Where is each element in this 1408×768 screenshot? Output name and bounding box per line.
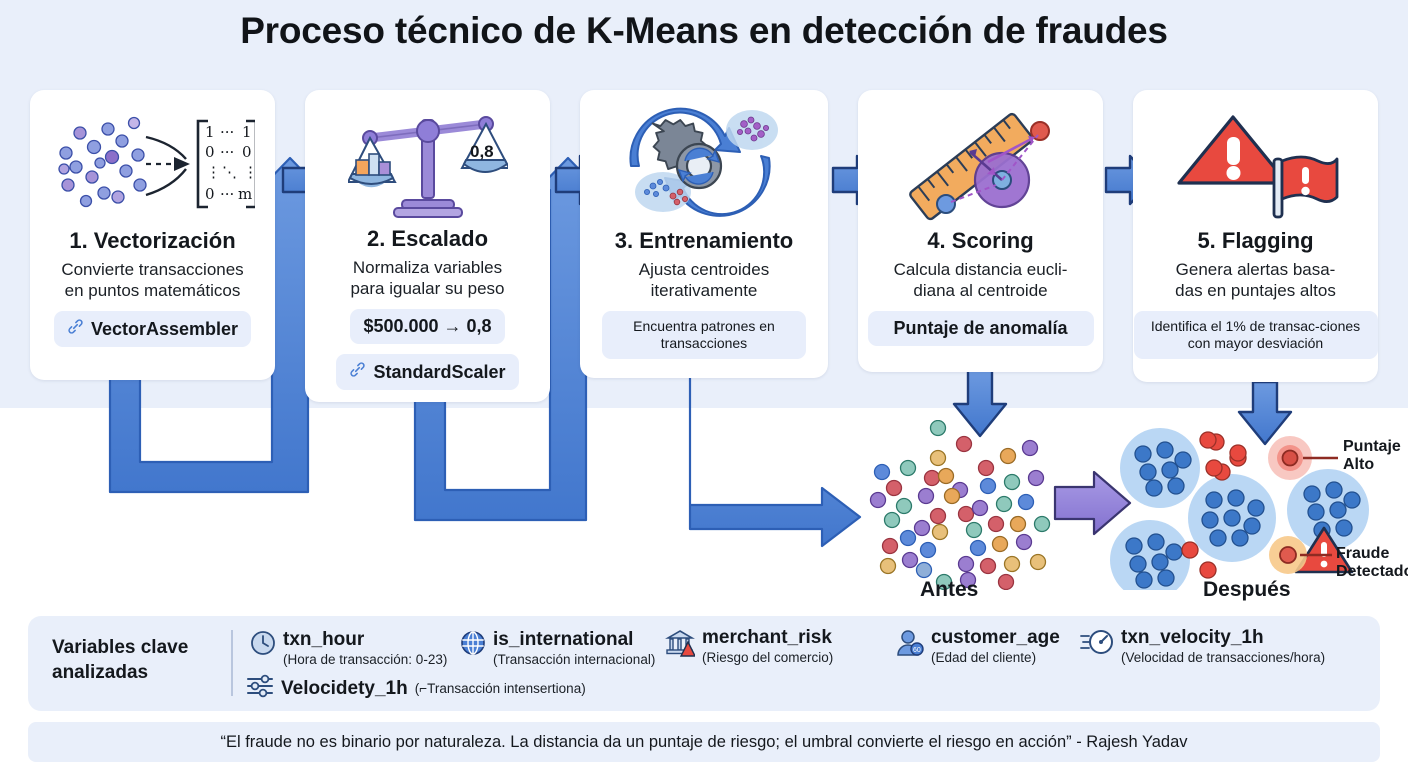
svg-text:m: m [238,185,252,203]
variable-desc: (Velocidad de transacciones/hora) [1121,650,1325,666]
variable-txn-velocity-1h[interactable]: txn_velocity_1h (Velocidad de transaccio… [1080,628,1325,665]
bank-risk-icon [665,628,695,663]
variable-name: customer_age [931,628,1060,648]
pill-label: StandardScaler [373,362,505,383]
balance-scale-icon: 0,8 [348,104,508,222]
link-icon [349,361,366,383]
desc-line-2: diana al centroide [913,281,1047,300]
variable-desc: (Riesgo del comercio) [702,650,833,666]
svg-text:1: 1 [205,123,215,141]
step-card-5-desc: Genera alertas basa- das en puntajes alt… [1175,260,1336,301]
variable-txn-hour[interactable]: txn_hour (Hora de transacción: 0-23) [250,630,447,667]
step-card-1[interactable]: 1···1 0···0 ⋮⋱⋮ 0···m 1. Vectorización C… [30,90,275,380]
svg-text:⋮: ⋮ [206,163,221,181]
step-card-3-title: 3. Entrenamiento [615,228,793,254]
svg-text:60: 60 [913,647,921,654]
desc-line-2: en puntos matemáticos [65,281,241,300]
variable-name: txn_hour [283,630,447,650]
svg-text:0: 0 [205,185,215,203]
step-card-3-pill-note[interactable]: Encuentra patrones en transacciones [602,311,806,359]
high-score-line-2: Alto [1343,456,1401,474]
variable-desc: (Hora de transacción: 0-23) [283,652,447,668]
svg-text:⋱: ⋱ [222,163,237,181]
step-card-5[interactable]: 5. Flagging Genera alertas basa- das en … [1133,90,1378,382]
vars-divider [231,630,233,696]
fraud-line-2: Detectado [1336,563,1408,581]
gear-refresh-clusters-icon [609,104,799,224]
clock-icon [250,630,276,661]
antes-label: Antes [920,578,978,602]
vars-title-line-2: analizadas [52,662,148,683]
step-card-5-title: 5. Flagging [1197,228,1313,254]
variable-velocidety-1h[interactable]: Velocidety_1h (⌐Transacción intensertion… [246,673,586,704]
variable-desc: (Edad del cliente) [931,650,1060,666]
variable-desc: (Transacción internacional) [493,652,655,668]
link-icon [67,318,84,340]
variable-name: txn_velocity_1h [1121,628,1325,648]
step-card-2-desc: Normaliza variables para igualar su peso [350,258,504,299]
ruler-distance-icon [891,104,1071,224]
pill-label: Encuentra patrones en transacciones [615,318,793,352]
step-card-3[interactable]: 3. Entrenamiento Ajusta centroides itera… [580,90,828,378]
variable-txn-hour-text: txn_hour (Hora de transacción: 0-23) [283,630,447,667]
svg-text:⋮: ⋮ [243,163,255,181]
variable-merchant-risk[interactable]: merchant_risk (Riesgo del comercio) [665,628,833,665]
desc-line-1: Ajusta centroides [639,260,769,279]
step-card-2[interactable]: 0,8 2. Escalado Normaliza variables para… [305,90,550,402]
variable-name: is_international [493,630,655,650]
fraud-detected-marker [1269,536,1332,574]
high-score-annotation: Puntaje Alto [1343,438,1401,475]
desc-line-1: Normaliza variables [353,258,502,277]
desc-line-2: das en puntajes altos [1175,281,1336,300]
svg-text:0: 0 [242,143,252,161]
step-card-2-pill-scaling-example[interactable]: $500.000 → 0,8 [350,309,504,344]
scatter-to-matrix-icon: 1···1 0···0 ⋮⋱⋮ 0···m [50,104,255,224]
quote-bar: “El fraude no es binario por naturaleza.… [28,722,1380,762]
svg-text:1: 1 [242,123,252,141]
step-card-2-title: 2. Escalado [367,226,488,252]
key-variables-bar: Variables clave analizadas txn_hour (Hor… [28,616,1380,711]
variable-customer-age-text: customer_age (Edad del cliente) [931,628,1060,665]
key-variables-title: Variables clave analizadas [52,636,222,685]
despues-label: Después [1203,578,1291,602]
fraud-detected-annotation: Fraude Detectado [1336,545,1408,582]
step-card-5-pill-note[interactable]: Identifica el 1% de transac-ciones con m… [1134,311,1378,359]
variable-name: merchant_risk [702,628,833,648]
svg-text:···: ··· [220,185,234,203]
step-card-2-pill-standardscaler[interactable]: StandardScaler [336,354,518,390]
step-card-4-pill-anomaly-score[interactable]: Puntaje de anomalía [868,311,1094,346]
pill-label: Identifica el 1% de transac-ciones con m… [1147,318,1365,352]
svg-text:···: ··· [220,123,234,141]
desc-line-1: Calcula distancia eucli- [894,260,1068,279]
desc-line-1: Convierte transacciones [61,260,243,279]
outlier-dots [1182,432,1246,578]
step-card-1-desc: Convierte transacciones en puntos matemá… [61,260,243,301]
user-age-icon: 60 [894,628,924,663]
step-card-4-title: 4. Scoring [927,228,1033,254]
pill-label: $500.000 → 0,8 [363,316,491,337]
svg-text:···: ··· [220,143,234,161]
globe-icon [460,630,486,661]
fraud-line-1: Fraude [1336,545,1408,563]
variable-is-international[interactable]: is_international (Transacción internacio… [460,630,655,667]
desc-line-1: Genera alertas basa- [1176,260,1336,279]
svg-text:0: 0 [205,143,215,161]
high-score-line-1: Puntaje [1343,438,1401,456]
variable-txn-velocity-text: txn_velocity_1h (Velocidad de transaccio… [1121,628,1325,665]
variable-merchant-risk-text: merchant_risk (Riesgo del comercio) [702,628,833,665]
step-card-1-pill-vectorassembler[interactable]: VectorAssembler [54,311,251,347]
quote-text: “El fraude no es binario por naturaleza.… [220,733,1187,752]
desc-line-2: iterativamente [651,281,758,300]
step-card-4[interactable]: 4. Scoring Calcula distancia eucli- dian… [858,90,1103,372]
connector-l-to-antes [690,378,860,546]
step-card-4-desc: Calcula distancia eucli- diana al centro… [894,260,1068,301]
vars-title-line-1: Variables clave [52,637,188,658]
step-card-1-title: 1. Vectorización [69,228,235,254]
svg-text:0,8: 0,8 [470,142,494,161]
step-card-3-desc: Ajusta centroides iterativamente [639,260,769,301]
variable-desc: (⌐Transacción intensertiona) [415,681,586,696]
antes-scatter [871,421,1050,590]
pill-label: Puntaje de anomalía [893,318,1067,339]
sliders-icon [246,673,274,704]
desc-line-2: para igualar su peso [350,279,504,298]
warning-flag-icon [1171,104,1341,224]
pill-label: VectorAssembler [91,319,238,340]
speedometer-icon [1080,628,1114,661]
variable-name: Velocidety_1h [281,678,408,700]
variable-customer-age[interactable]: 60 customer_age (Edad del cliente) [894,628,1060,665]
variable-is-international-text: is_international (Transacción internacio… [493,630,655,667]
